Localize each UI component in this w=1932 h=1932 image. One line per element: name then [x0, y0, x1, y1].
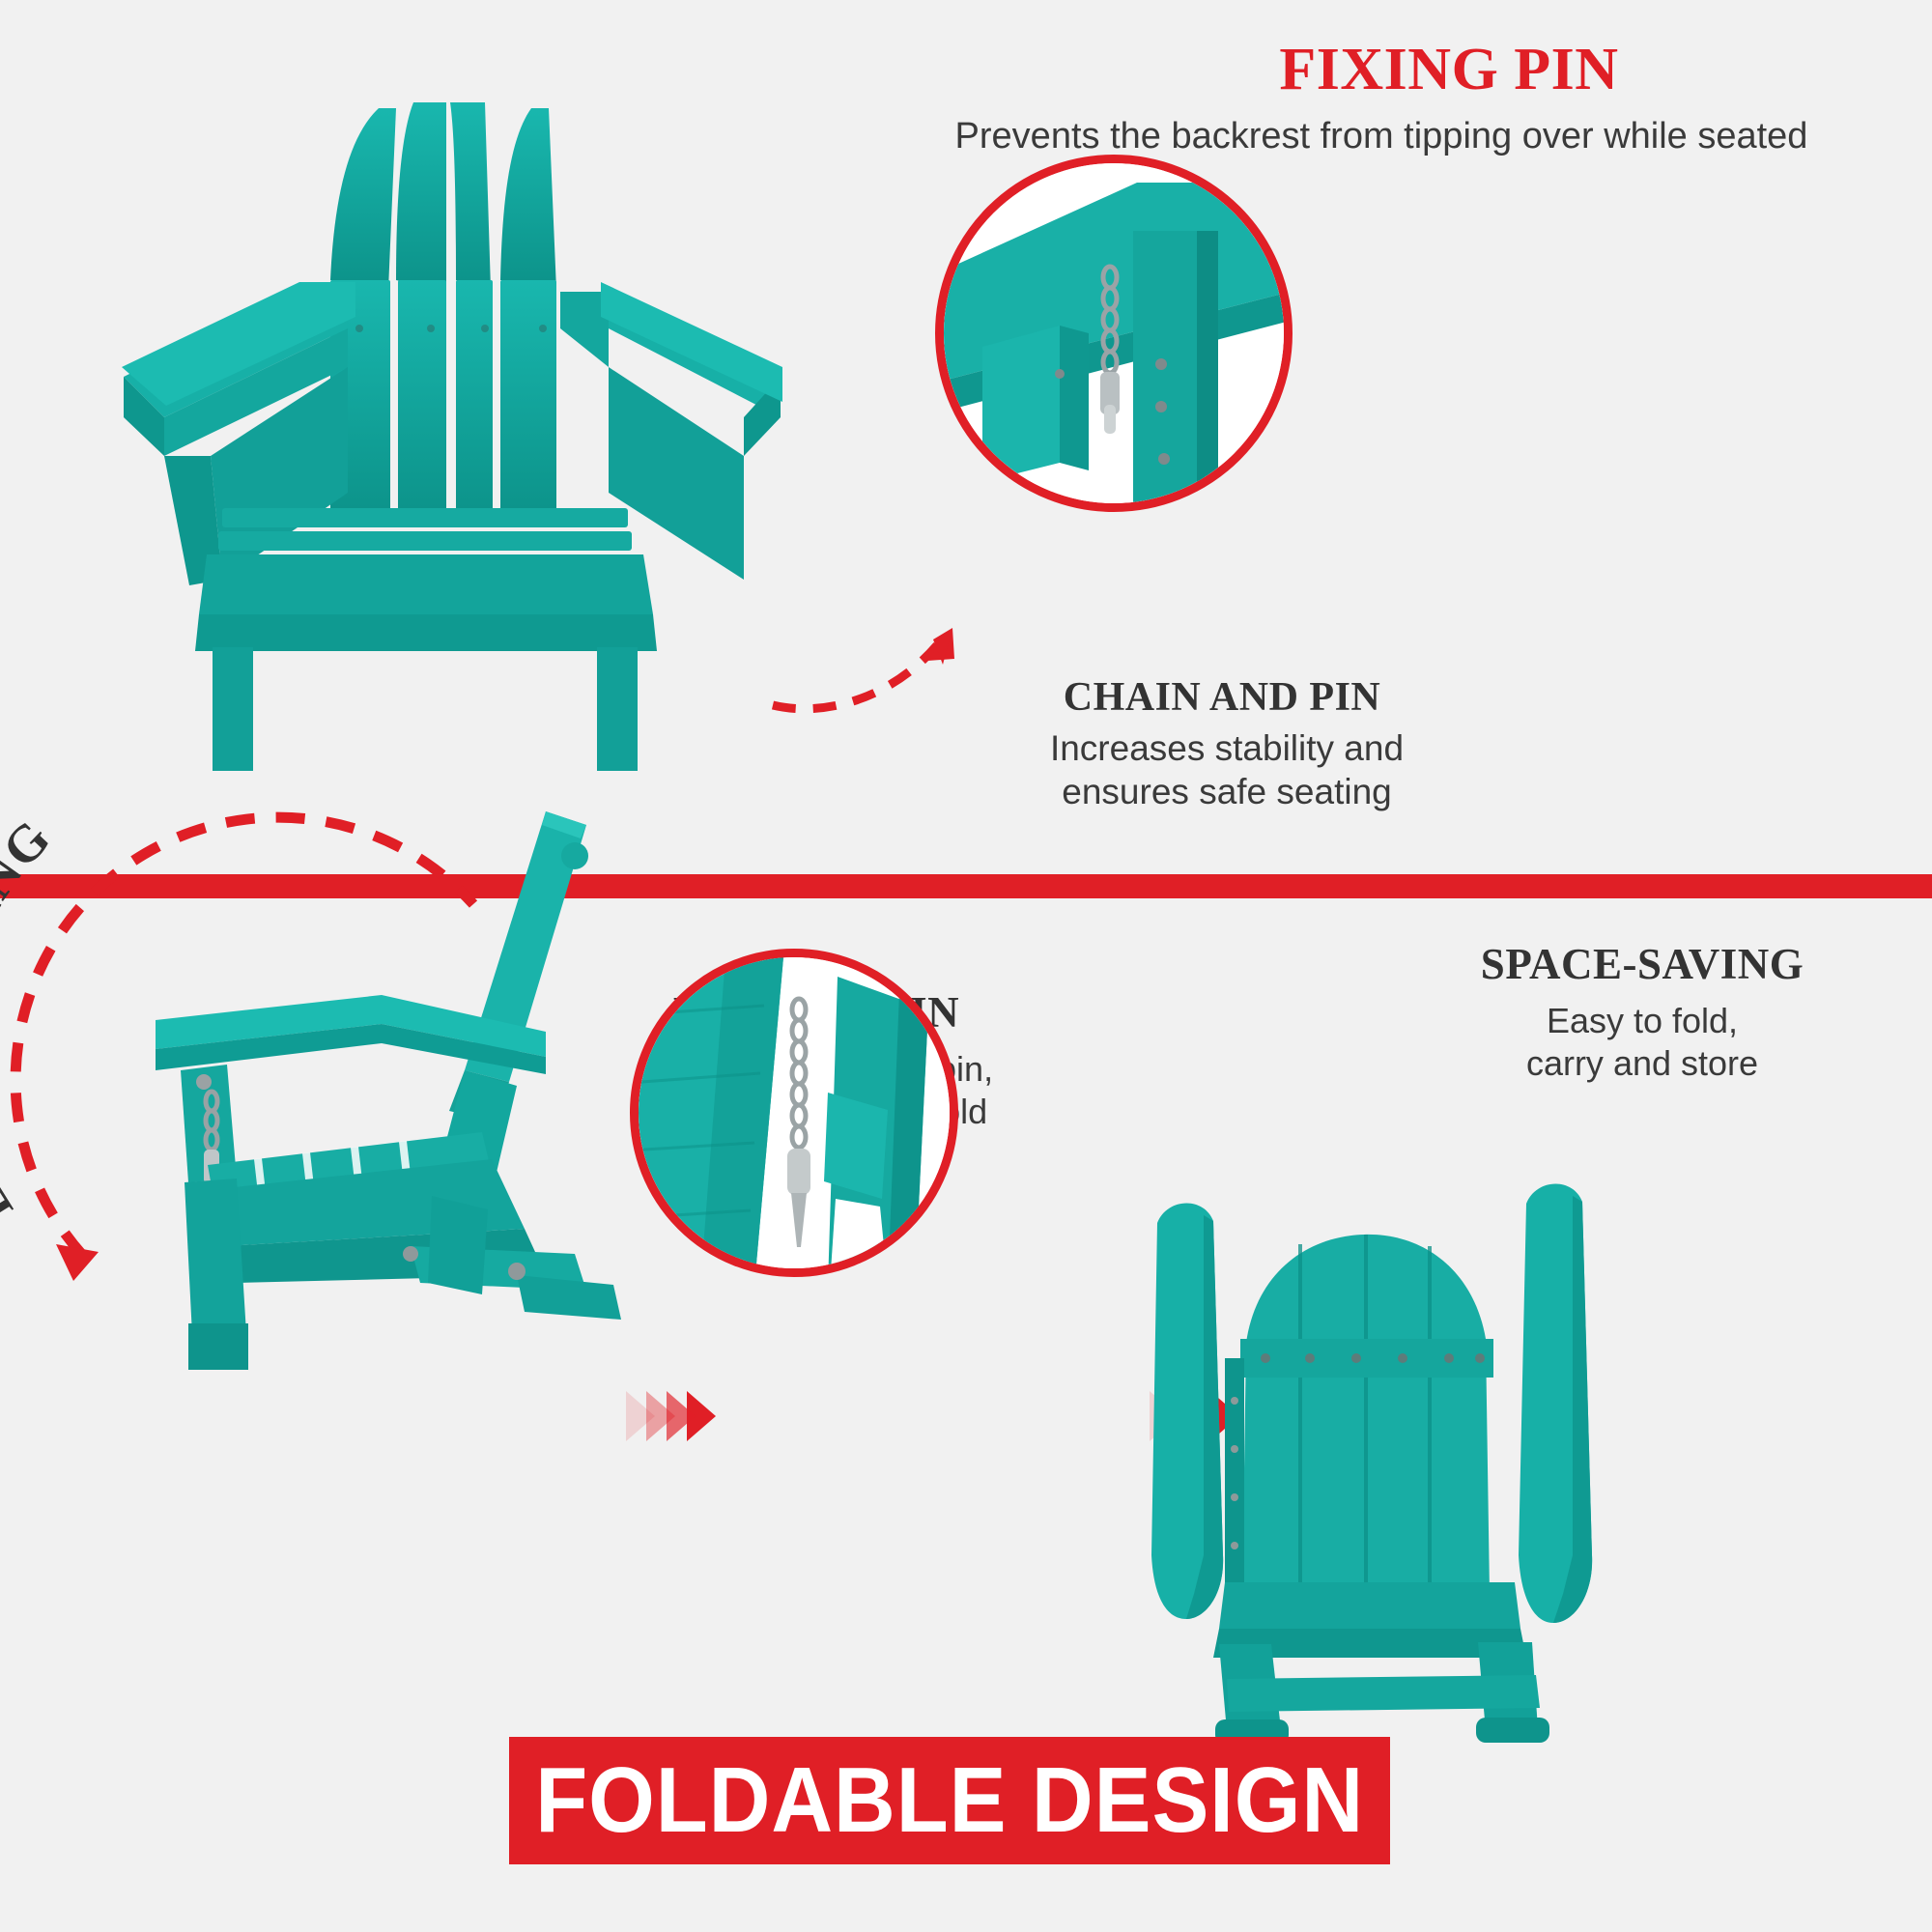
- chain-pin-line-1: Increases stability and: [927, 726, 1526, 770]
- pin-removal-closeup-svg: [639, 957, 958, 1277]
- chair-front-view-image: [106, 39, 724, 657]
- chain-and-pin-title: CHAIN AND PIN: [995, 676, 1449, 719]
- chain-and-pin-detail-inset: [935, 155, 1293, 512]
- easy-folding-label: EASY FOLDING: [0, 809, 62, 1235]
- chair-front-svg: [106, 39, 724, 657]
- curved-arrow-to-detail: [763, 618, 976, 724]
- chair-folded-image: [1111, 1053, 1652, 1748]
- chain-and-pin-description: Increases stability and ensures safe sea…: [927, 726, 1526, 813]
- space-saving-title: SPACE-SAVING: [1391, 942, 1893, 987]
- chain-pin-closeup-svg: [944, 163, 1293, 512]
- space-saving-line-1: Easy to fold,: [1401, 1000, 1884, 1042]
- fixing-pin-subtitle: Prevents the backrest from tipping over …: [831, 114, 1932, 158]
- foldable-design-banner: FOLDABLE DESIGN: [509, 1737, 1390, 1864]
- chair-folded-svg: [1111, 1053, 1652, 1748]
- chain-pin-line-2: ensures safe seating: [927, 770, 1526, 813]
- fixing-pin-title: FIXING PIN: [966, 39, 1932, 101]
- chevron-icon: [667, 1391, 696, 1441]
- banner-label: FOLDABLE DESIGN: [535, 1747, 1364, 1854]
- pin-removal-detail-inset: [630, 949, 958, 1277]
- chevron-arrow-group-left: [626, 1391, 707, 1441]
- infographic-canvas: FIXING PIN Prevents the backrest from ti…: [0, 0, 1932, 1932]
